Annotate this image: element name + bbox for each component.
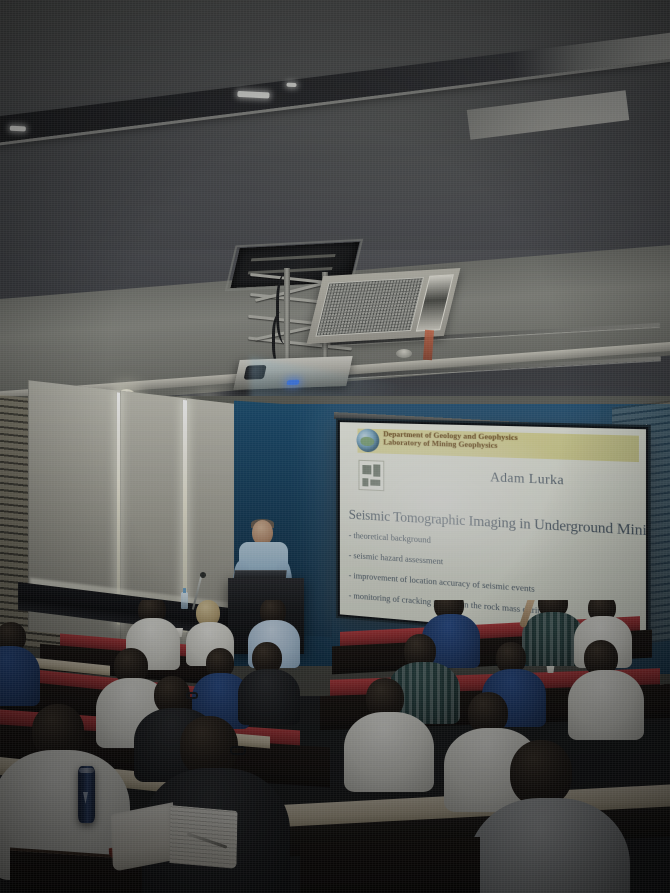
- cassette-ac-unit: [307, 268, 461, 344]
- attendee-torso: [568, 670, 644, 740]
- audience-seating-area: [0, 600, 670, 893]
- logo-shape: [362, 478, 368, 486]
- logo-shape: [362, 465, 371, 474]
- ac-grille: [315, 277, 424, 337]
- globe-icon: [357, 429, 380, 453]
- smoke-detector-icon: [396, 349, 412, 358]
- microphone-icon: [200, 572, 206, 578]
- logo-shape: [370, 479, 380, 486]
- book-page-left: [111, 802, 175, 872]
- lecture-hall-photo: Department of Geology and Geophysics Lab…: [0, 0, 670, 893]
- glasses-icon: [230, 746, 246, 755]
- projector-status-led: [286, 380, 299, 385]
- light-glint-icon: [286, 83, 296, 88]
- light-glint-icon: [237, 91, 269, 99]
- projector-lens-icon: [244, 365, 267, 380]
- chair-back: [300, 837, 480, 893]
- open-book[interactable]: [112, 808, 237, 870]
- attendee-head: [510, 740, 572, 806]
- logo-shape: [373, 464, 380, 476]
- attendee-torso: [344, 712, 434, 792]
- attendee-torso: [238, 669, 300, 725]
- attendee-head: [180, 716, 238, 776]
- institute-logo-icon: [358, 460, 384, 491]
- beverage-can[interactable]: [78, 766, 95, 823]
- light-glint-icon: [10, 126, 26, 132]
- glasses-icon: [186, 692, 198, 699]
- attendee-torso: [0, 646, 40, 706]
- ceiling-projector: [233, 356, 352, 390]
- slide-presenter-name: Adam Lurka: [436, 468, 622, 491]
